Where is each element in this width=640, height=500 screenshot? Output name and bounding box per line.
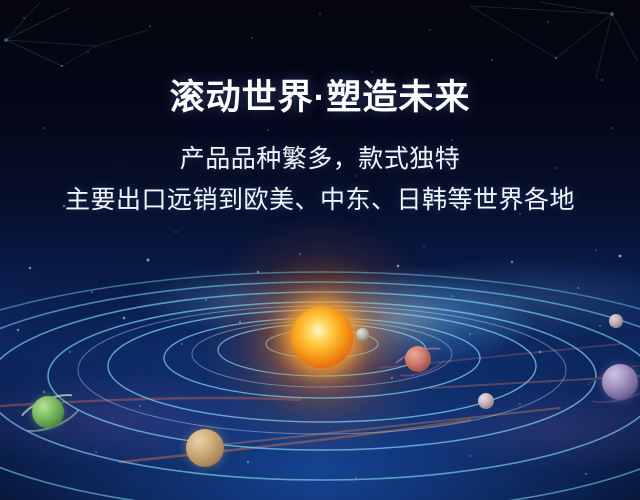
red-ringed-planet bbox=[405, 346, 431, 372]
sun-core bbox=[291, 306, 353, 368]
green-ringed-planet bbox=[32, 396, 64, 428]
tan-banded-planet bbox=[186, 429, 224, 467]
banner-headline: 滚动世界·塑造未来 bbox=[0, 0, 640, 120]
banner-subtitle-line-2: 主要出口远销到欧美、中东、日韩等世界各地 bbox=[0, 176, 640, 217]
space-banner: 滚动世界·塑造未来 产品品种繁多，款式独特 主要出口远销到欧美、中东、日韩等世界… bbox=[0, 0, 640, 500]
small-gray-moon bbox=[356, 328, 369, 341]
purple-ringed-planet bbox=[602, 364, 638, 400]
pink-small-planet bbox=[478, 393, 494, 409]
banner-text-block: 滚动世界·塑造未来 产品品种繁多，款式独特 主要出口远销到欧美、中东、日韩等世界… bbox=[0, 0, 640, 217]
tiny-top-right-planet bbox=[609, 314, 623, 328]
banner-subtitle-line-1: 产品品种繁多，款式独特 bbox=[0, 120, 640, 176]
